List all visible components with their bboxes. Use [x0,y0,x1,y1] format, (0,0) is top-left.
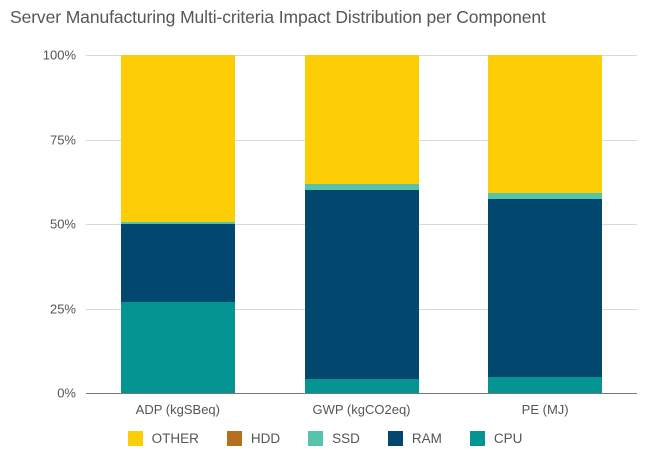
y-axis-tick-label: 75% [50,132,76,147]
bar-segment-ssd[interactable] [121,222,235,224]
y-axis-tick-label: 25% [50,301,76,316]
chart-title: Server Manufacturing Multi-criteria Impa… [10,7,546,28]
legend-item-hdd[interactable]: HDD [227,431,280,446]
gridline-0 [86,393,637,394]
y-axis-tick-labels: 0%25%50%75%100% [0,55,76,393]
bar-segment-cpu[interactable] [121,302,235,393]
bar-segment-cpu[interactable] [305,379,419,393]
legend-label: CPU [494,431,523,446]
bar-segment-other[interactable] [121,55,235,222]
bar-segment-ram[interactable] [488,199,602,377]
y-axis-tick-label: 100% [43,48,76,63]
legend-item-ssd[interactable]: SSD [308,431,360,446]
y-axis-tick-label: 50% [50,217,76,232]
bar-segment-ram[interactable] [121,224,235,302]
bar-stack[interactable] [488,55,602,393]
x-axis-tick-label: ADP (kgSBeq) [136,402,220,417]
bar-segment-ssd[interactable] [305,184,419,190]
legend-label: OTHER [152,431,199,446]
chart-legend: OTHERHDDSSDRAMCPU [0,431,650,446]
bar-stack[interactable] [121,55,235,393]
legend-item-cpu[interactable]: CPU [470,431,523,446]
bar-stack[interactable] [305,55,419,393]
legend-item-other[interactable]: OTHER [128,431,199,446]
bar-segment-ram[interactable] [305,190,419,379]
y-axis-tick-label: 0% [57,386,76,401]
legend-swatch-icon [128,431,143,446]
bar-segment-other[interactable] [488,55,602,193]
x-axis-tick-label: PE (MJ) [522,402,569,417]
bar-segment-ssd[interactable] [488,193,602,199]
bar-segment-other[interactable] [305,55,419,184]
chart-container: Server Manufacturing Multi-criteria Impa… [0,0,650,464]
bars-layer [86,55,637,393]
legend-swatch-icon [388,431,403,446]
legend-swatch-icon [227,431,242,446]
legend-label: HDD [251,431,280,446]
x-axis-tick-label: GWP (kgCO2eq) [312,402,410,417]
legend-label: SSD [332,431,360,446]
legend-swatch-icon [470,431,485,446]
legend-label: RAM [412,431,442,446]
bar-segment-cpu[interactable] [488,377,602,393]
legend-swatch-icon [308,431,323,446]
legend-item-ram[interactable]: RAM [388,431,442,446]
